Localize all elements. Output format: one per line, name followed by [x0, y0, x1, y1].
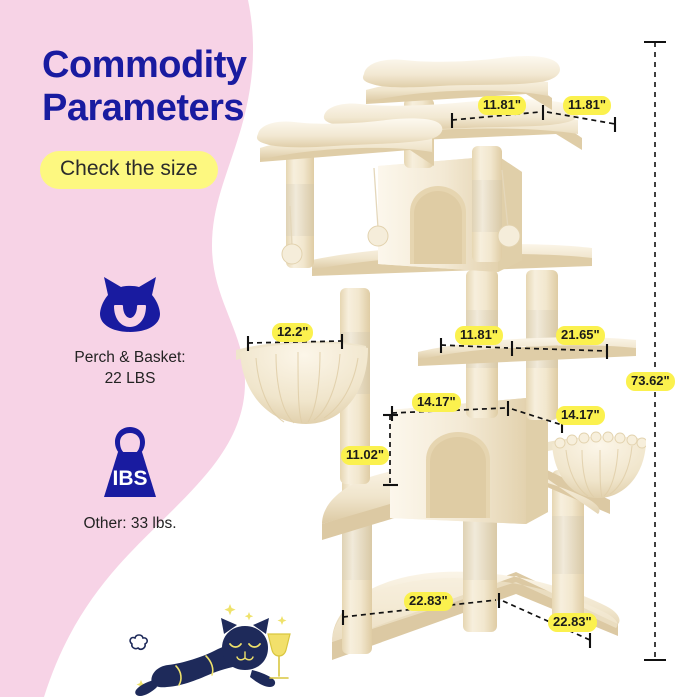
cat-face-icon: [30, 275, 230, 338]
dim-base-depth: 22.83": [548, 613, 597, 632]
dim-base-width: 22.83": [404, 592, 453, 611]
paw-doodle: [130, 635, 147, 649]
spec-perch-basket: Perch & Basket: 22 LBS: [30, 275, 230, 390]
spec-other-weight: IBS Other: 33 lbs.: [30, 425, 230, 535]
dim-top-left-width: 11.81": [478, 96, 526, 115]
dim-lower-condo-height: 11.02": [341, 446, 389, 465]
dim-total-height: 73.62": [626, 372, 675, 391]
dim-lower-condo-width: 14.17": [412, 393, 461, 412]
title-line-1: Commodity: [42, 44, 247, 86]
dim-mid-shelf-depth: 21.65": [556, 326, 605, 345]
spec-other-label: Other: 33 lbs.: [83, 515, 176, 532]
weight-icon: IBS: [30, 425, 230, 504]
dim-basket-left-width: 12.2": [272, 323, 313, 342]
cat-tree-product-image: [226, 20, 646, 680]
spec-perch-label: Perch & Basket:: [74, 349, 185, 366]
check-size-badge: Check the size: [40, 151, 218, 189]
spec-perch-value: 22 LBS: [105, 370, 156, 387]
dim-top-right-width: 11.81": [563, 96, 611, 115]
weight-icon-text: IBS: [112, 467, 147, 490]
dim-mid-shelf-width: 11.81": [455, 326, 503, 345]
dim-lower-condo-depth: 14.17": [556, 406, 605, 425]
infographic-canvas: Commodity Parameters Check the size Perc…: [0, 0, 679, 697]
